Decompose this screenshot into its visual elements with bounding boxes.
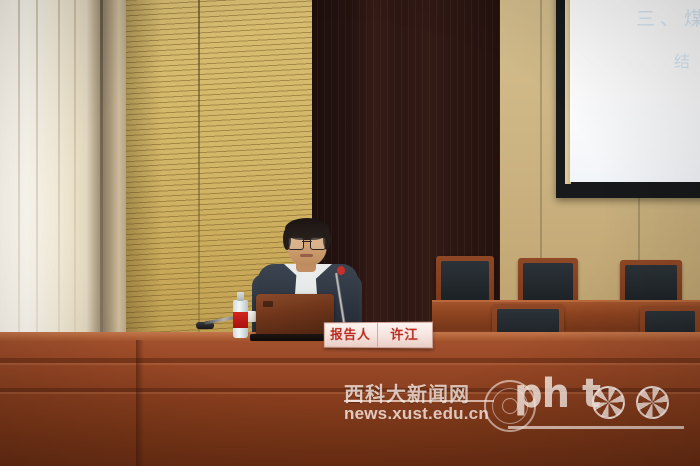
laptop	[256, 294, 334, 336]
blinds-seam	[198, 0, 200, 372]
microphone-head	[337, 266, 345, 275]
glasses-lens-right	[310, 237, 326, 250]
glasses-lens-left	[288, 237, 304, 250]
bottle-cap	[237, 292, 244, 301]
chair-back-cushion	[441, 261, 489, 302]
desk-side-panel	[136, 340, 144, 466]
blinds-shadow	[122, 0, 162, 372]
placard-role-label: 报告人	[325, 329, 377, 342]
presenter-desk	[0, 332, 700, 466]
slide-subheading-line: 结	[674, 48, 695, 72]
water-bottle	[233, 292, 248, 338]
laptop-logo	[263, 301, 273, 307]
projection-screen-surface: 三、煤 结	[570, 0, 700, 182]
desk-molding-highlight-2	[0, 392, 700, 394]
slide-heading-line: 三、煤	[636, 4, 700, 31]
chair-back-cushion	[523, 263, 573, 304]
presenter-mouth	[300, 254, 313, 257]
placard-name-label: 许江	[377, 328, 431, 341]
desk-molding-highlight-1	[0, 363, 700, 365]
bottle-label	[233, 312, 248, 328]
name-placard: 报告人 许江	[324, 322, 433, 349]
projection-screen-frame: 三、煤 结	[556, 0, 700, 198]
lecture-hall-photo: 三、煤 结	[0, 0, 700, 466]
glasses-icon	[288, 237, 326, 248]
chair-back-1	[436, 256, 494, 306]
